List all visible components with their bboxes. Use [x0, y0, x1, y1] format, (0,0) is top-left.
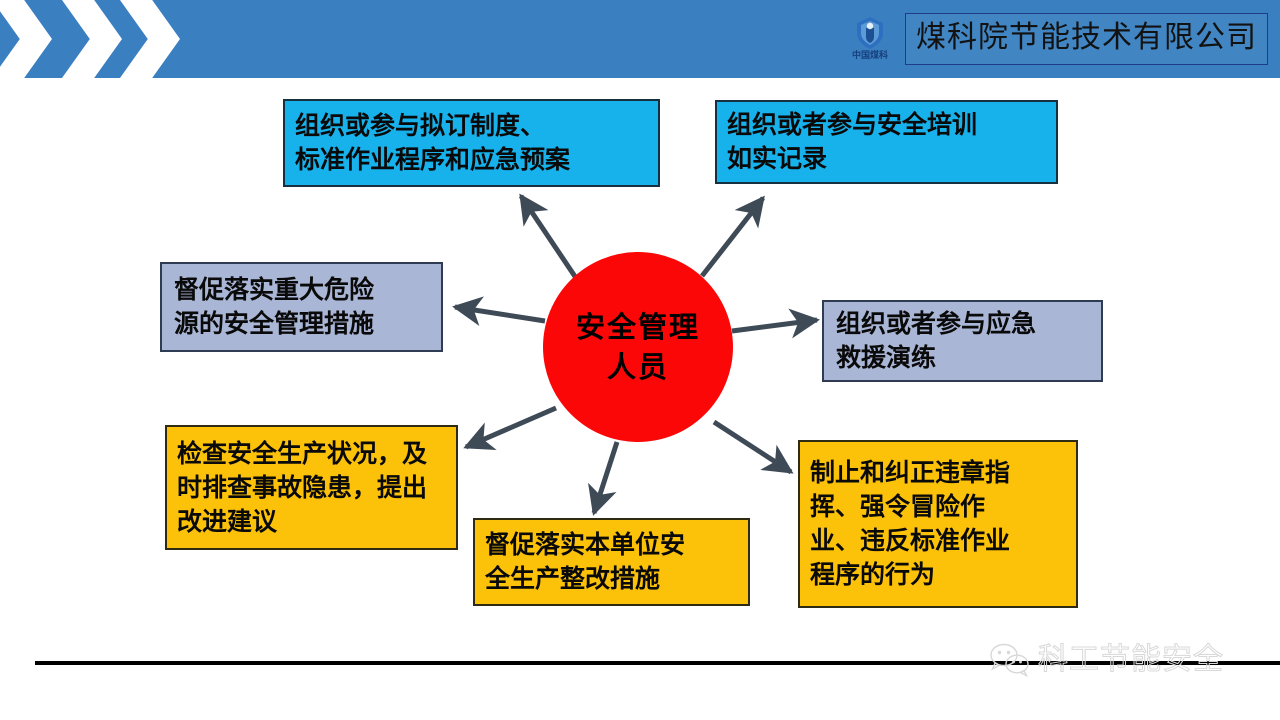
node-major-hazard[interactable]: 督促落实重大危险 源的安全管理措施	[160, 262, 443, 352]
company-title: 煤科院节能技术有限公司	[916, 21, 1257, 55]
company-logo: 中国煤科	[839, 9, 901, 69]
company-title-box: 煤科院节能技术有限公司	[905, 13, 1268, 65]
node-violation-stop-line-1: 制止和纠正违章指	[810, 456, 1066, 490]
node-emergency-drill[interactable]: 组织或者参与应急 救援演练	[822, 300, 1103, 382]
center-node-safety-officer[interactable]: 安全管理 人员	[543, 252, 733, 442]
node-violation-stop-line-4: 程序的行为	[810, 558, 1066, 592]
slide-canvas: 中国煤科 煤科院节能技术有限公司	[0, 0, 1280, 720]
node-policy-drafting-line-2: 标准作业程序和应急预案	[295, 143, 648, 177]
node-rectification-line-1: 督促落实本单位安	[485, 528, 738, 562]
brand-area: 中国煤科 煤科院节能技术有限公司	[839, 8, 1268, 70]
node-inspection-line-3: 改进建议	[177, 505, 446, 539]
chevron-decoration-icon	[52, 0, 122, 78]
node-safety-training-line-2: 如实记录	[727, 142, 1046, 176]
node-emergency-drill-line-1: 组织或者参与应急	[836, 307, 1089, 341]
logo-caption: 中国煤科	[852, 51, 888, 62]
chevron-decoration-icon	[0, 0, 52, 78]
node-major-hazard-line-2: 源的安全管理措施	[174, 307, 429, 341]
node-inspection-line-1: 检查安全生产状况，及	[177, 437, 446, 471]
node-policy-drafting[interactable]: 组织或参与拟订制度、 标准作业程序和应急预案	[283, 99, 660, 187]
center-node-label-line-2: 人员	[607, 347, 669, 387]
node-policy-drafting-line-1: 组织或参与拟订制度、	[295, 109, 648, 143]
slide-header: 中国煤科 煤科院节能技术有限公司	[0, 0, 1280, 78]
watermark-label: 科工节能安全	[1038, 643, 1224, 677]
center-node-label-line-1: 安全管理	[576, 307, 700, 347]
node-inspection-line-2: 时排查事故隐患，提出	[177, 471, 446, 505]
node-rectification-line-2: 全生产整改措施	[485, 562, 738, 596]
node-emergency-drill-line-2: 救援演练	[836, 341, 1089, 375]
diagram-area: 安全管理 人员 组织或参与拟订制度、 标准作业程序和应急预案 组织或者参与安全培…	[0, 78, 1280, 638]
wechat-icon	[988, 642, 1032, 678]
node-major-hazard-line-1: 督促落实重大危险	[174, 273, 429, 307]
node-violation-stop-line-3: 业、违反标准作业	[810, 524, 1066, 558]
node-inspection[interactable]: 检查安全生产状况，及 时排查事故隐患，提出 改进建议	[165, 425, 458, 550]
node-violation-stop-line-2: 挥、强令冒险作	[810, 490, 1066, 524]
node-safety-training-line-1: 组织或者参与安全培训	[727, 108, 1046, 142]
node-violation-stop[interactable]: 制止和纠正违章指 挥、强令冒险作 业、违反标准作业 程序的行为	[798, 440, 1078, 608]
node-rectification[interactable]: 督促落实本单位安 全生产整改措施	[473, 518, 750, 606]
node-safety-training[interactable]: 组织或者参与安全培训 如实记录	[715, 100, 1058, 184]
footer-watermark: 科工节能安全	[988, 637, 1224, 683]
coal-science-emblem-icon	[850, 16, 890, 50]
